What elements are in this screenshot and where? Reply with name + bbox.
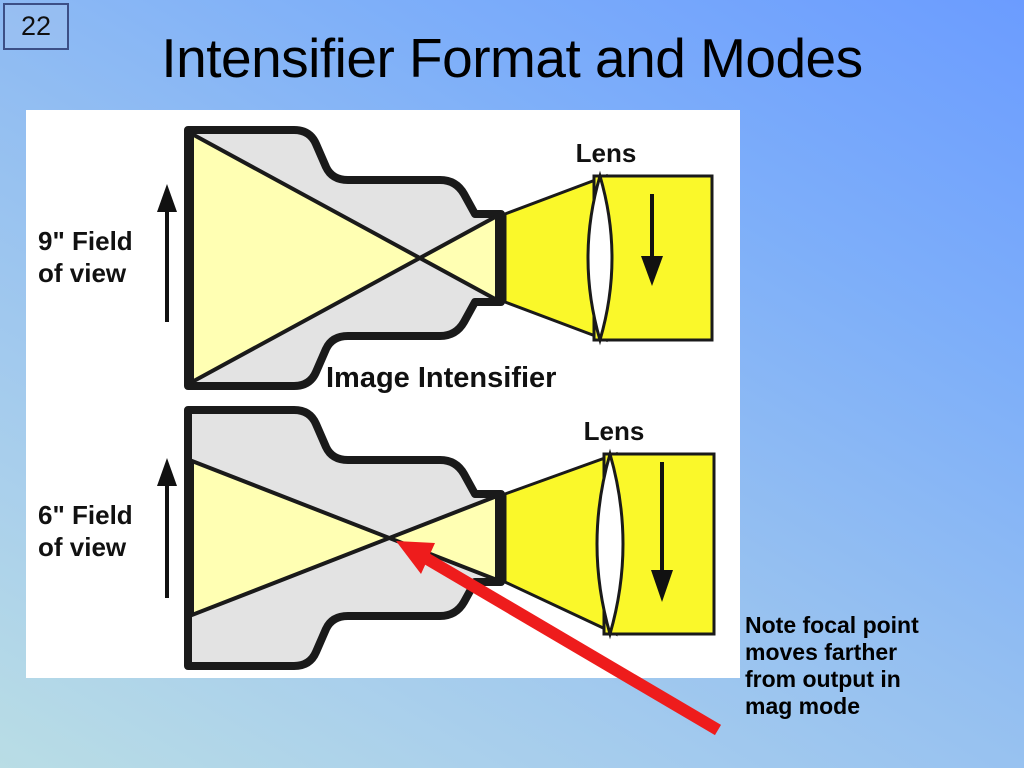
diagram-mag-mode: Lens 6" Field of view xyxy=(38,410,714,666)
page-title: Intensifier Format and Modes xyxy=(0,26,1024,90)
slide-canvas: 22 Intensifier Format and Modes Lens xyxy=(0,0,1024,768)
fov-arrow-mag xyxy=(157,458,177,598)
diagram-normal-mode: Lens 9" Field of view xyxy=(38,130,712,386)
fov-label-mag-line2: of view xyxy=(38,532,127,562)
figure-panel: Lens 9" Field of view Image Intensifier xyxy=(26,110,740,678)
intensifier-diagram-svg: Lens 9" Field of view Image Intensifier xyxy=(26,110,740,678)
fov-label-normal-line1: 9" Field xyxy=(38,226,133,256)
lens-label-mag: Lens xyxy=(584,416,645,446)
beam-crossing-normal xyxy=(192,134,497,382)
annotation-line-2: moves farther xyxy=(745,639,1010,666)
image-intensifier-label: Image Intensifier xyxy=(326,362,556,394)
focal-point-annotation: Note focal point moves farther from outp… xyxy=(745,612,1010,721)
annotation-line-4: mag mode xyxy=(745,693,1010,720)
lens-label-normal: Lens xyxy=(576,138,637,168)
annotation-line-1: Note focal point xyxy=(745,612,1010,639)
fov-arrow-normal xyxy=(157,184,177,322)
fov-label-normal-line2: of view xyxy=(38,258,127,288)
annotation-line-3: from output in xyxy=(745,666,1010,693)
fov-label-mag-line1: 6" Field xyxy=(38,500,133,530)
